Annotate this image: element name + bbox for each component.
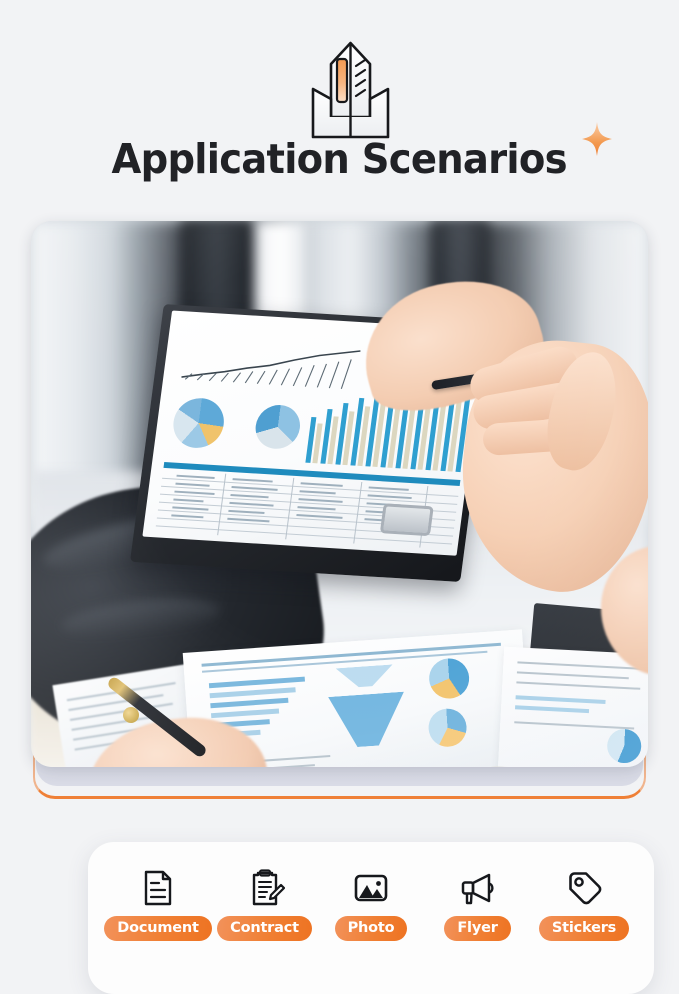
card-stack: Document Contract (31, 221, 648, 801)
categories-panel: Document Contract (88, 842, 654, 994)
photo-highlight-overlay (31, 221, 648, 767)
document-icon (138, 868, 178, 908)
image-icon (351, 868, 391, 908)
sparkle-icon (582, 122, 612, 156)
category-pill-label[interactable]: Stickers (539, 916, 629, 941)
category-pill-label[interactable]: Photo (335, 916, 408, 941)
category-pill-label[interactable]: Flyer (444, 916, 510, 941)
category-pill-label[interactable]: Contract (217, 916, 312, 941)
page-root: Application Scenarios (0, 0, 679, 836)
category-item-contract[interactable]: Contract (213, 868, 317, 941)
category-item-flyer[interactable]: Flyer (426, 868, 530, 941)
scenario-photo (31, 221, 648, 767)
title-row: Application Scenarios (0, 134, 679, 184)
category-pill-label[interactable]: Document (104, 916, 212, 941)
clipboard-pencil-icon (245, 868, 285, 908)
header: Application Scenarios (0, 0, 679, 215)
megaphone-icon (458, 868, 498, 908)
building-icon (293, 37, 408, 145)
page-title: Application Scenarios (112, 134, 567, 184)
category-item-document[interactable]: Document (106, 868, 210, 941)
category-list: Document Contract (88, 842, 654, 960)
category-item-stickers[interactable]: Stickers (532, 868, 636, 941)
tag-icon (564, 868, 604, 908)
category-item-photo[interactable]: Photo (319, 868, 423, 941)
